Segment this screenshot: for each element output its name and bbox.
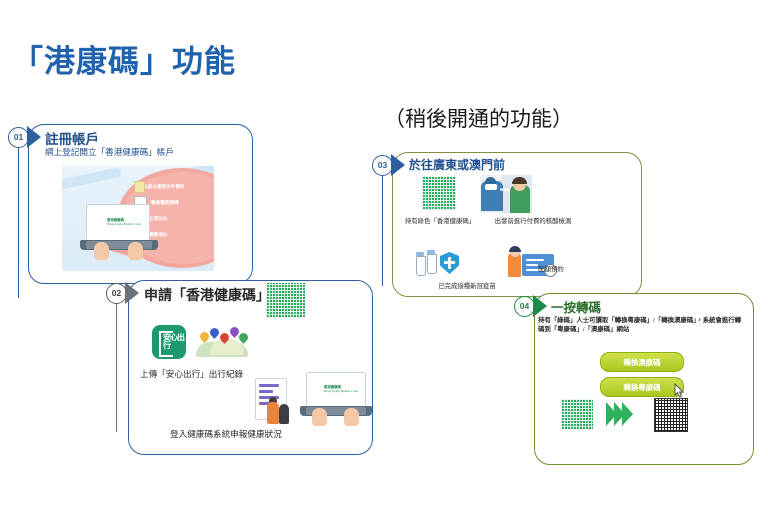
hand-illustration [94, 242, 109, 260]
slide-canvas: 「港康碼」功能 （稍後開通的功能） 01 註冊帳戶 網上登記開立「香港健康碼」帳… [0, 0, 768, 512]
connector-line-01 [18, 148, 19, 298]
conversion-arrow-icon [606, 400, 648, 428]
face-mask-icon [485, 184, 497, 190]
step-title-03: 於往廣東或澳門前 [409, 156, 505, 173]
health-declaration-illustration [255, 378, 293, 426]
leavehomesafe-icon: 安心出行 [152, 325, 186, 359]
step-title-04: 一按轉碼 [551, 297, 601, 316]
step-number-03: 03 [372, 155, 393, 176]
id-card-icon [134, 181, 145, 193]
step-badge-02: 02 [106, 282, 139, 304]
app-icon-text: 安心出行 [163, 334, 186, 350]
patient-hair [512, 177, 527, 184]
chevron-right-icon [622, 402, 633, 426]
hand-illustration [344, 408, 359, 426]
list-item: 姓名及身分證明文件資料 [134, 180, 214, 193]
step-arrow-01 [27, 126, 41, 148]
shield-icon [440, 252, 459, 274]
cross-shape [444, 261, 455, 264]
laptop-illustration: 香港健康碼 Hong Kong Health Code [300, 372, 372, 426]
step-arrow-02 [125, 282, 139, 304]
step-subtitle-01: 網上登記開立「香港健康碼」帳戶 [45, 146, 174, 158]
step-label-03d: 配額預約 [522, 266, 580, 275]
vaccination-illustration [414, 248, 462, 282]
step-number-01: 01 [8, 127, 29, 148]
person-hair [509, 246, 521, 252]
person-body [267, 402, 279, 424]
step-label-02b: 登入健康碼系統申報健康狀況 [170, 428, 282, 440]
person-body [279, 404, 289, 424]
screen-text-line2: Hong Kong Health Code [324, 389, 358, 393]
laptop-screen: 香港健康碼 Hong Kong Health Code [86, 204, 150, 242]
screen-text-line2: Hong Kong Health Code [107, 222, 141, 226]
step-title-02: 申請「香港健康碼」 [144, 285, 270, 305]
step-title-01: 註冊帳戶 [45, 128, 99, 148]
step-arrow-03 [391, 154, 405, 176]
step-number-04: 04 [514, 296, 535, 317]
laptop-illustration: 香港健康碼 Hong Kong Health Code [80, 204, 158, 260]
convert-macau-code-button[interactable]: 轉換澳康碼 [600, 352, 684, 372]
quota-booking-illustration [508, 248, 556, 282]
step-number-02: 02 [106, 283, 127, 304]
page-title: 「港康碼」功能 [12, 36, 236, 81]
green-qr-code [266, 283, 305, 318]
laptop-screen: 香港健康碼 Hong Kong Health Code [306, 372, 366, 408]
nucleic-acid-test-illustration [480, 175, 532, 213]
cloud-shape [62, 167, 122, 191]
connector-line-03 [382, 176, 383, 286]
vaccine-vial-icon [416, 256, 426, 276]
hill-shape [210, 339, 244, 355]
map-pins-illustration [196, 326, 248, 358]
green-qr-code [422, 177, 456, 210]
step-label-03c: 已完成接種新冠疫苗 [424, 283, 510, 292]
later-functions-heading: （稍後開通的功能） [384, 103, 573, 133]
vaccine-vial-icon [427, 254, 437, 274]
form-line [259, 384, 279, 387]
step-badge-03: 03 [372, 154, 405, 176]
step-badge-04: 04 [514, 295, 547, 317]
form-line [259, 390, 273, 393]
step-arrow-04 [533, 295, 547, 317]
step-badge-01: 01 [8, 126, 41, 148]
step-label-03b: 出發前進行付費的核酸檢測 [478, 218, 588, 227]
step-label-03a: 持有綠色「香港健康碼」 [404, 218, 476, 227]
illustration-registration: 姓名及身分證明文件資料 聯絡電話號碼 在港住址 電郵地址 香港健康碼 Hong … [62, 166, 214, 271]
step-body-04: 持有「綠碼」人士可讀取「轉換粵康碼」/「轉換澳康碼」，系統會進行轉碼到「粵康碼」… [538, 316, 743, 335]
hand-illustration [128, 242, 143, 260]
connector-line-02 [116, 304, 117, 432]
green-qr-code [561, 399, 593, 430]
step-label-02a: 上傳「安心出行」出行紀錄 [140, 368, 243, 380]
hand-illustration [312, 408, 327, 426]
card-line [526, 259, 544, 261]
converted-qr-code [654, 398, 688, 432]
